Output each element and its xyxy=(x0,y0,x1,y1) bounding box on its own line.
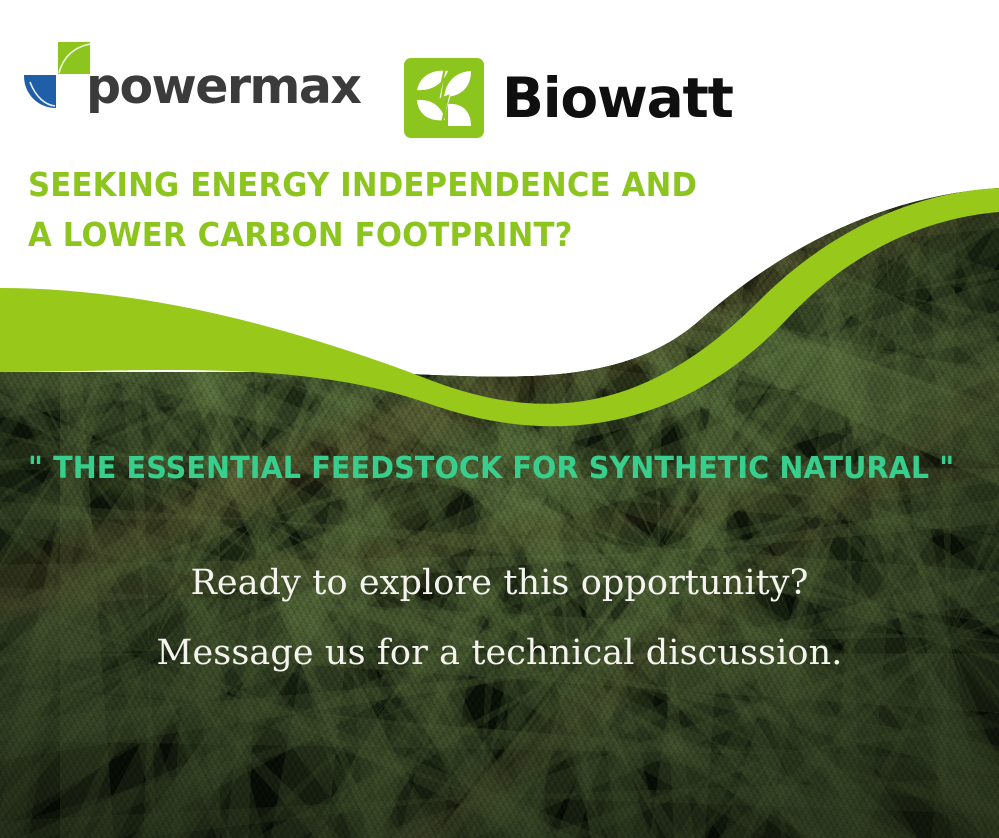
logo-row: powermax Biowatt xyxy=(0,0,999,150)
headline: SEEKING ENERGY INDEPENDENCE AND A LOWER … xyxy=(28,160,697,260)
biowatt-logo: Biowatt xyxy=(404,58,733,138)
marketing-poster: powermax Biowatt SEEKING ENERGY xyxy=(0,0,999,838)
biowatt-leaf-bolt-mark xyxy=(404,58,484,138)
powermax-wordmark: powermax xyxy=(86,66,360,108)
headline-line-1: SEEKING ENERGY INDEPENDENCE AND xyxy=(28,160,697,210)
powermax-logo: powermax xyxy=(24,42,360,108)
cta-block: Ready to explore this opportunity? Messa… xyxy=(0,548,999,688)
quote-text: " THE ESSENTIAL FEEDSTOCK FOR SYNTHETIC … xyxy=(28,450,935,488)
cta-line-2: Message us for a technical discussion. xyxy=(0,618,999,688)
biowatt-wordmark: Biowatt xyxy=(502,71,733,126)
headline-line-2: A LOWER CARBON FOOTPRINT? xyxy=(28,210,697,260)
cta-line-1: Ready to explore this opportunity? xyxy=(0,548,999,618)
powermax-leaf-mark xyxy=(24,42,90,108)
